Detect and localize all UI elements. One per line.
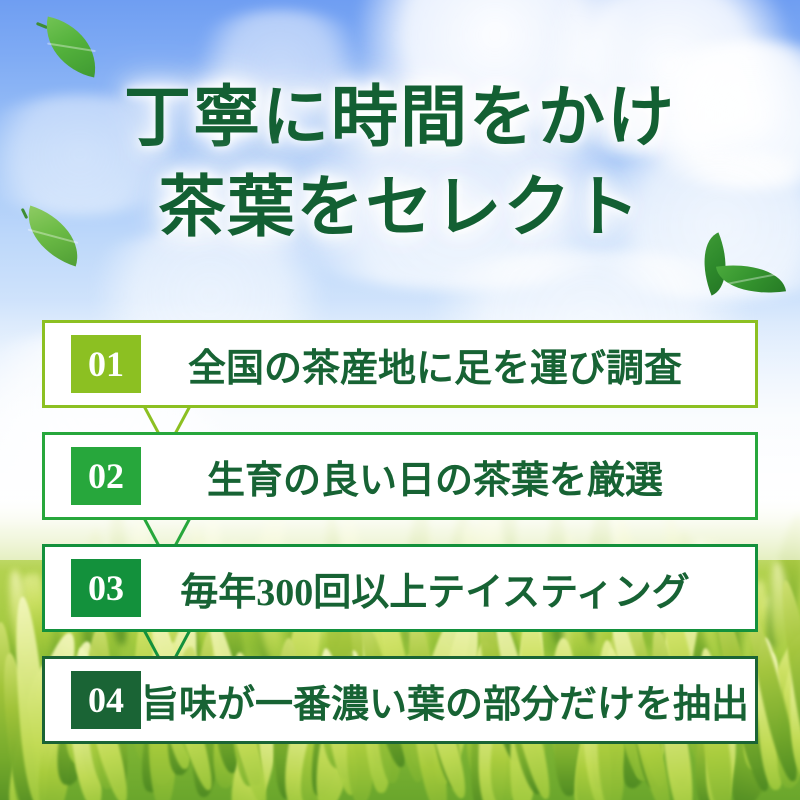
cloud-shape xyxy=(0,95,200,215)
step-item-01: 01 全国の茶産地に足を運び調査 xyxy=(42,320,758,408)
step-label: 全国の茶産地に足を運び調査 xyxy=(141,337,755,392)
step-number-badge: 03 xyxy=(71,559,141,617)
step-card: 02 生育の良い日の茶葉を厳選 xyxy=(42,432,758,520)
step-card: 03 毎年300回以上テイスティング xyxy=(42,544,758,632)
step-card: 01 全国の茶産地に足を運び調査 xyxy=(42,320,758,408)
step-item-03: 03 毎年300回以上テイスティング xyxy=(42,544,758,632)
step-number-badge: 02 xyxy=(71,447,141,505)
step-label: 毎年300回以上テイスティング xyxy=(141,561,755,616)
step-number-badge: 01 xyxy=(71,335,141,393)
step-label: 旨味が一番濃い葉の部分だけを抽出 xyxy=(141,673,775,728)
step-card: 04 旨味が一番濃い葉の部分だけを抽出 xyxy=(42,656,758,744)
step-label: 生育の良い日の茶葉を厳選 xyxy=(141,449,755,504)
step-item-04: 04 旨味が一番濃い葉の部分だけを抽出 xyxy=(42,656,758,744)
step-list: 01 全国の茶産地に足を運び調査 02 生育の良い日の茶葉を厳選 xyxy=(42,320,758,744)
cloud-shape xyxy=(180,10,380,120)
step-number-badge: 04 xyxy=(71,671,141,729)
promo-banner: 丁寧に時間をかけ 茶葉をセレクト 01 全国の茶産地に足を運び調査 02 生育の… xyxy=(0,0,800,800)
step-item-02: 02 生育の良い日の茶葉を厳選 xyxy=(42,432,758,520)
